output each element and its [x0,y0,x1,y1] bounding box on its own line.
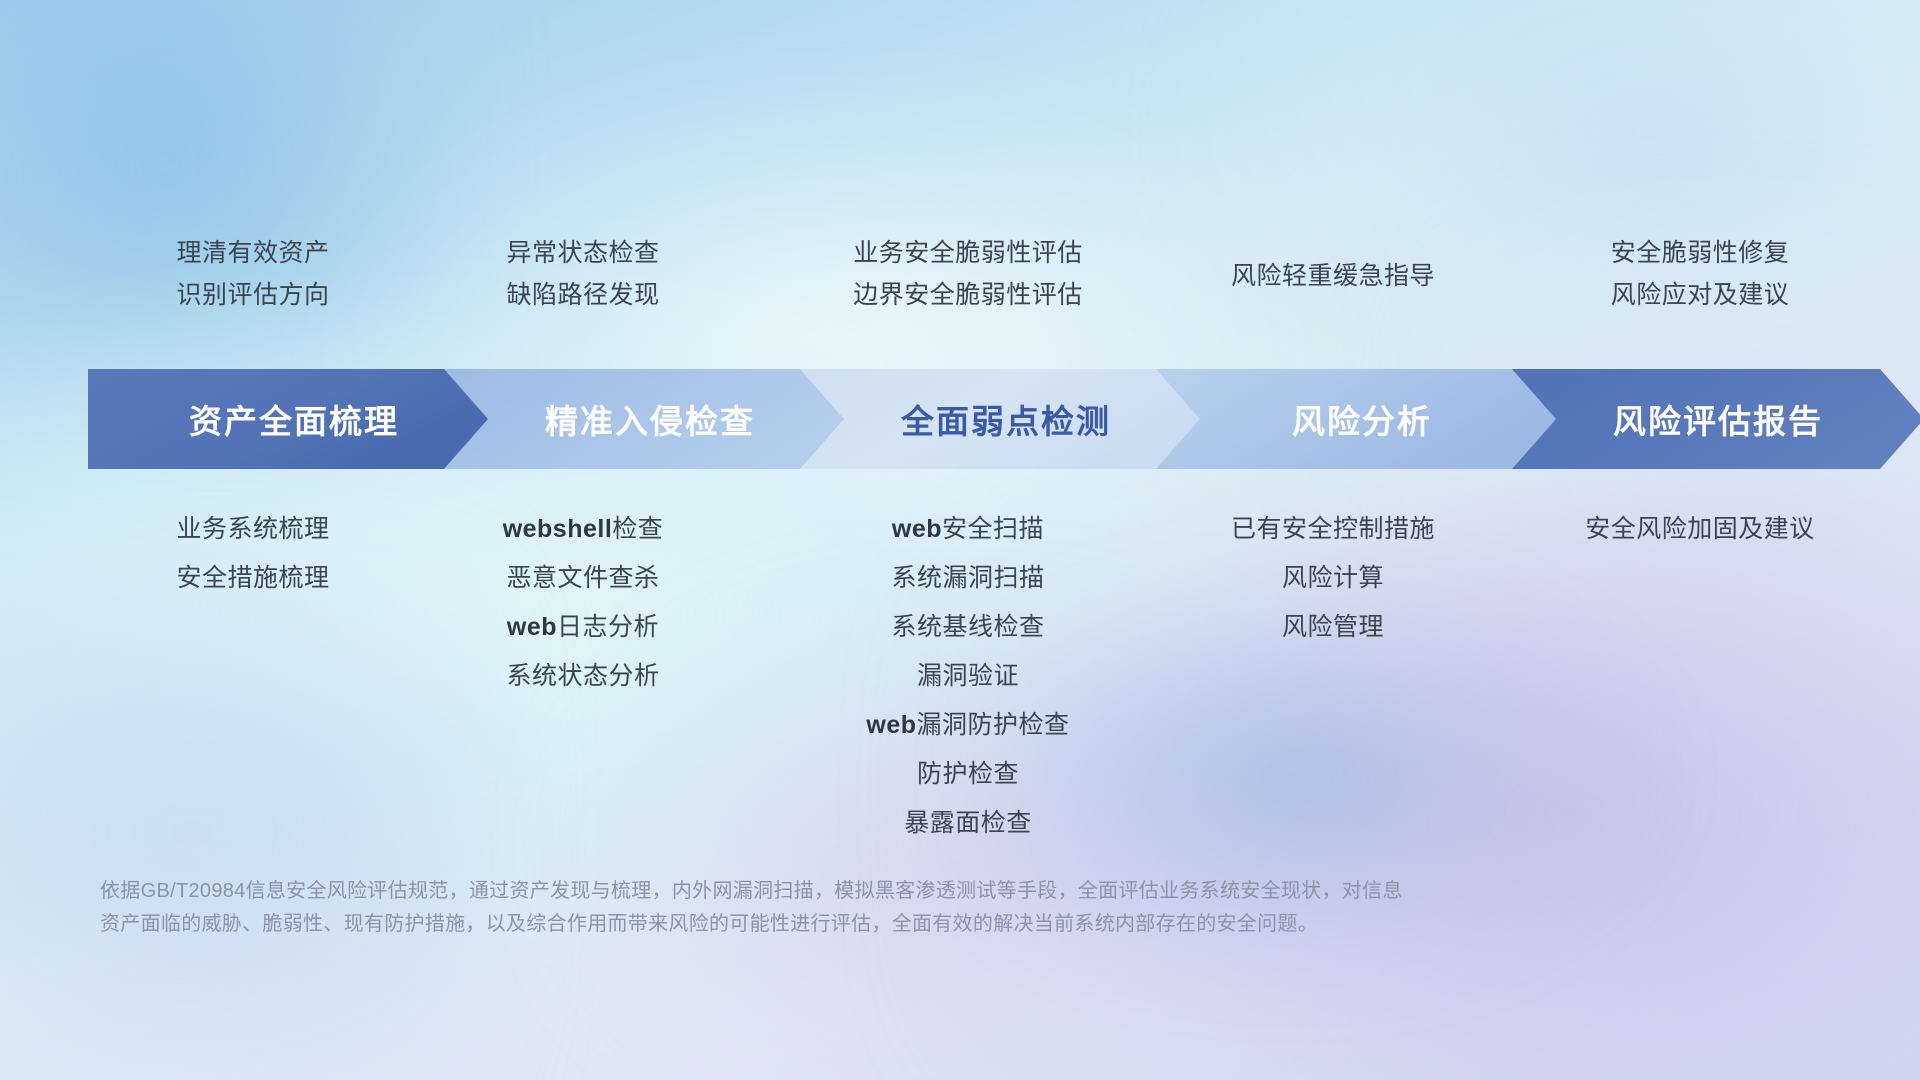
list-item-text: 漏洞验证 [917,662,1019,690]
list-item-text: 检查 [612,515,663,543]
list-item-text: 已有安全控制措施 [1231,515,1435,543]
list-item: 风险计算 [1148,554,1518,603]
chevron-stage-4[interactable]: 风险分析 [1156,369,1568,469]
stage-5-bottom-list: 安全风险加固及建议 [1490,505,1910,554]
list-item: web漏洞防护检查 [768,701,1168,750]
list-item-text: 安全风险加固及建议 [1585,515,1815,543]
list-item-text: 防护检查 [917,760,1019,788]
footer-line-1: 依据GB/T20984信息安全风险评估规范，通过资产发现与梳理，内外网漏洞扫描，… [100,875,1620,908]
top-label: 边界安全脆弱性评估 [768,274,1168,316]
top-label: 业务安全脆弱性评估 [768,232,1168,274]
list-item: 安全风险加固及建议 [1490,505,1910,554]
stage-2-top-labels: 异常状态检查 缺陷路径发现 [418,232,748,316]
stage-4-top-labels: 风险轻重缓急指导 [1148,255,1518,297]
top-label: 缺陷路径发现 [418,274,748,316]
chevron-label: 资产全面梳理 [189,395,399,443]
list-item-text: 恶意文件查杀 [506,564,659,592]
chevron-label: 精准入侵检查 [545,395,755,443]
list-item-text: 系统状态分析 [506,662,659,690]
stage-2-bottom-list: webshell检查 恶意文件查杀 web日志分析 系统状态分析 [418,505,748,701]
list-item: 风险管理 [1148,603,1518,652]
list-item: 漏洞验证 [768,652,1168,701]
list-item-prefix: web [507,613,557,641]
list-item-text: 暴露面检查 [904,809,1032,837]
list-item: 系统漏洞扫描 [768,554,1168,603]
chevron-label: 风险分析 [1292,395,1432,443]
list-item-prefix: webshell [503,515,613,543]
list-item-text: 系统基线检查 [891,613,1044,641]
chevron-stage-5[interactable]: 风险评估报告 [1512,369,1920,469]
list-item-prefix: web [866,711,916,739]
chevron-stage-2[interactable]: 精准入侵检查 [444,369,856,469]
top-label: 安全脆弱性修复 [1505,232,1895,274]
stage-5-top-labels: 安全脆弱性修复 风险应对及建议 [1505,232,1895,316]
list-item: 业务系统梳理 [88,505,418,554]
stage-3-top-labels: 业务安全脆弱性评估 边界安全脆弱性评估 [768,232,1168,316]
chevron-label: 风险评估报告 [1613,395,1823,443]
footer-description: 依据GB/T20984信息安全风险评估规范，通过资产发现与梳理，内外网漏洞扫描，… [100,875,1620,941]
chevron-stage-3[interactable]: 全面弱点检测 [800,369,1212,469]
list-item: 暴露面检查 [768,799,1168,848]
stage-1-top-labels: 理清有效资产 识别评估方向 [88,232,418,316]
list-item: 系统基线检查 [768,603,1168,652]
list-item-text: 日志分析 [557,613,659,641]
list-item: webshell检查 [418,505,748,554]
list-item-text: 风险计算 [1282,564,1384,592]
stage-4-bottom-list: 已有安全控制措施 风险计算 风险管理 [1148,505,1518,652]
top-label: 异常状态检查 [418,232,748,274]
list-item-text: 安全措施梳理 [176,564,329,592]
top-label: 风险轻重缓急指导 [1148,255,1518,297]
stage-1-bottom-list: 业务系统梳理 安全措施梳理 [88,505,418,603]
list-item-text: 漏洞防护检查 [917,711,1070,739]
list-item: 恶意文件查杀 [418,554,748,603]
list-item-text: 业务系统梳理 [176,515,329,543]
list-item: 防护检查 [768,750,1168,799]
list-item-text: 安全扫描 [942,515,1044,543]
top-label: 识别评估方向 [88,274,418,316]
list-item: 安全措施梳理 [88,554,418,603]
process-chevron-band: 资产全面梳理 精准入侵检查 [88,369,1853,469]
list-item: 系统状态分析 [418,652,748,701]
list-item-prefix: web [892,515,942,543]
stage-3-bottom-list: web安全扫描 系统漏洞扫描 系统基线检查 漏洞验证 web漏洞防护检查 防护检… [768,505,1168,848]
chevron-label: 全面弱点检测 [901,395,1111,443]
diagram-content: 理清有效资产 识别评估方向 异常状态检查 缺陷路径发现 业务安全脆弱性评估 边界… [0,0,1920,1080]
chevron-stage-1[interactable]: 资产全面梳理 [88,369,500,469]
list-item: web安全扫描 [768,505,1168,554]
top-label: 风险应对及建议 [1505,274,1895,316]
footer-line-2: 资产面临的威胁、脆弱性、现有防护措施，以及综合作用而带来风险的可能性进行评估，全… [100,908,1620,941]
list-item-text: 风险管理 [1282,613,1384,641]
top-label: 理清有效资产 [88,232,418,274]
list-item-text: 系统漏洞扫描 [891,564,1044,592]
list-item: 已有安全控制措施 [1148,505,1518,554]
list-item: web日志分析 [418,603,748,652]
